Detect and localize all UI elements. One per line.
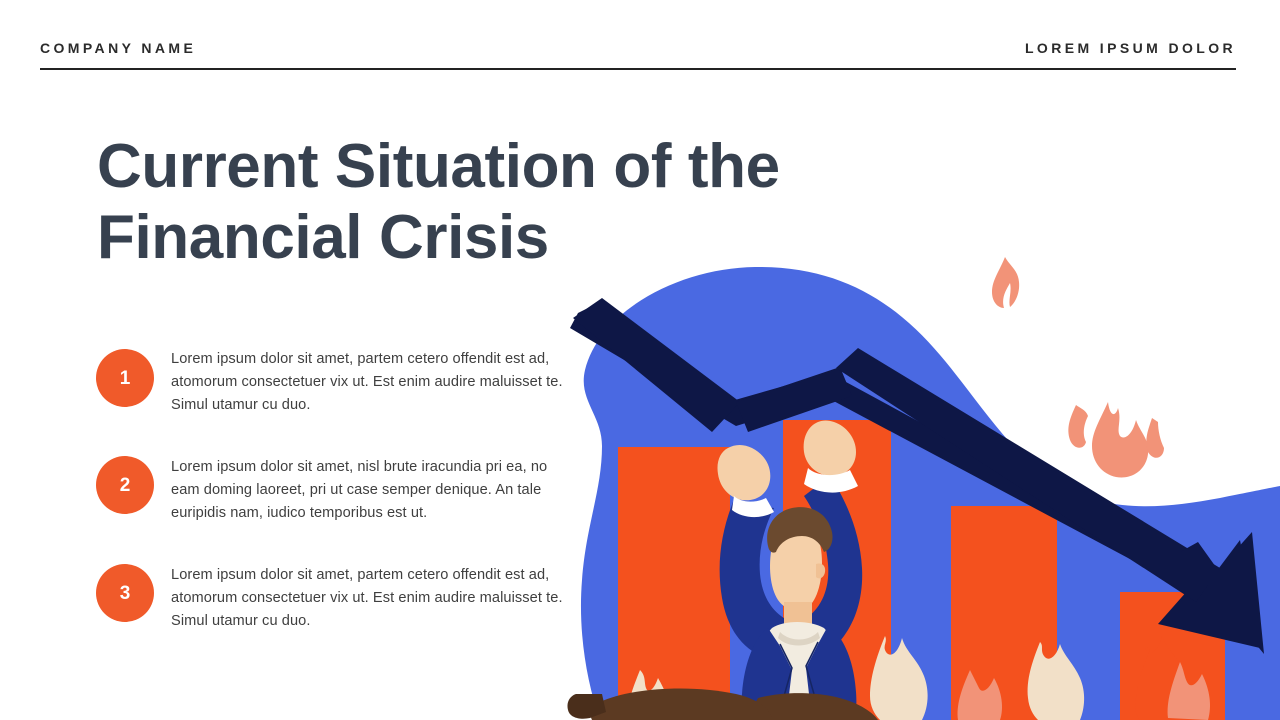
- slide-header: COMPANY NAME LOREM IPSUM DOLOR: [40, 30, 1236, 70]
- slide: COMPANY NAME LOREM IPSUM DOLOR Current S…: [0, 0, 1280, 720]
- bullet-body-text: Lorem ipsum dolor sit amet, nisl brute i…: [171, 456, 566, 525]
- bullet-number-badge: 2: [96, 456, 154, 514]
- company-name-label: COMPANY NAME: [40, 30, 196, 55]
- bullet-list: 1 Lorem ipsum dolor sit amet, partem cet…: [96, 348, 566, 640]
- flame-icon: [1092, 402, 1148, 478]
- flame-icon: [1146, 418, 1164, 458]
- flame-icon: [1068, 405, 1088, 448]
- flame-icon: [992, 257, 1019, 308]
- list-item: 2 Lorem ipsum dolor sit amet, nisl brute…: [96, 456, 566, 532]
- header-tagline-label: LOREM IPSUM DOLOR: [1025, 30, 1236, 55]
- bullet-body-text: Lorem ipsum dolor sit amet, partem ceter…: [171, 564, 566, 633]
- bullet-body-text: Lorem ipsum dolor sit amet, partem ceter…: [171, 348, 566, 417]
- bullet-number-badge: 3: [96, 564, 154, 622]
- bullet-number-badge: 1: [96, 349, 154, 407]
- list-item: 3 Lorem ipsum dolor sit amet, partem cet…: [96, 564, 566, 640]
- list-item: 1 Lorem ipsum dolor sit amet, partem cet…: [96, 348, 566, 424]
- chart-bar-1: [618, 447, 730, 720]
- financial-crisis-illustration: [540, 250, 1280, 720]
